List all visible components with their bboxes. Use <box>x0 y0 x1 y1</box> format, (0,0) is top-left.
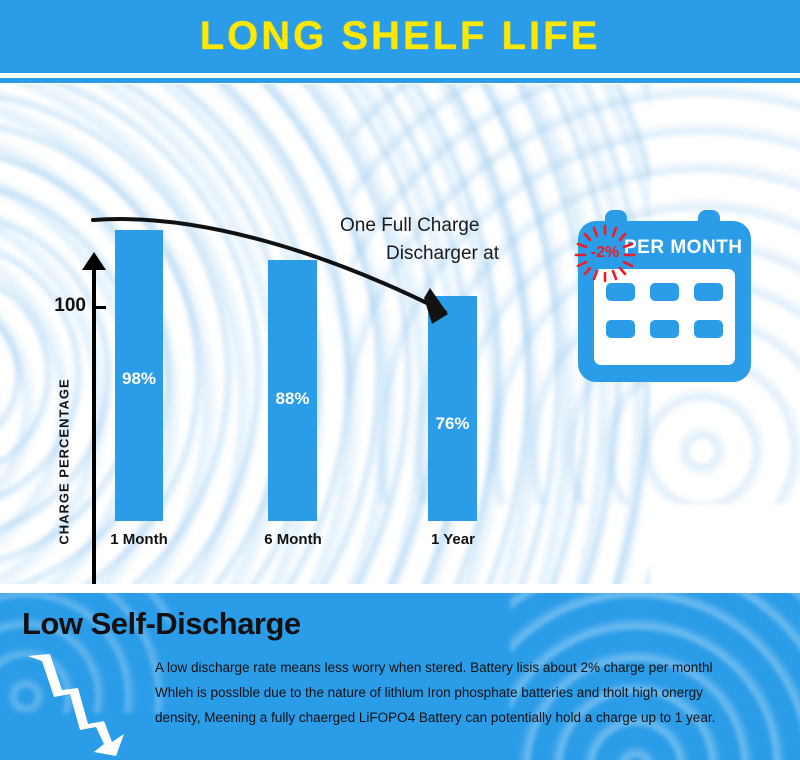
calendar-badge: PER MONTH <box>572 210 757 382</box>
bottom-section-title: Low Self-Discharge <box>22 606 301 642</box>
bottom-body-line-3: density, Meening a fully chaerged LiFOPO… <box>155 706 780 731</box>
calendar-rate-label: -2% <box>572 224 638 282</box>
bar-value-label-6-month: 88% <box>268 389 317 409</box>
calendar-cell <box>606 320 635 338</box>
bottom-panel: Low Self-Discharge A low discharge rate … <box>0 593 800 760</box>
y-axis-title: CHARGE PERCENTAGE <box>57 362 72 562</box>
bottom-section-body: A low discharge rate means less worry wh… <box>155 656 780 731</box>
chart-region: 100 0 CHARGE PERCENTAGE 98% 88% 76% 1 Mo… <box>0 84 800 584</box>
page-title: LONG SHELF LIFE <box>0 0 800 73</box>
calendar-cell <box>650 283 679 301</box>
header-divider-rule <box>0 78 800 83</box>
x-axis-category-1-year: 1 Year <box>403 531 503 548</box>
calendar-period-label: PER MONTH <box>624 237 752 259</box>
calendar-cell <box>650 320 679 338</box>
chart-annotation-line1: One Full Charge <box>340 215 479 236</box>
bottom-body-line-1: A low discharge rate means less worry wh… <box>155 656 780 681</box>
x-axis-category-1-month: 1 Month <box>89 531 189 548</box>
chart-annotation-line2: Discharger at <box>340 240 570 268</box>
calendar-cell <box>694 283 723 301</box>
y-axis-tick-100 <box>94 306 106 309</box>
calendar-grid-sheet <box>594 269 735 365</box>
bottom-body-line-2: Whleh is posslble due to the nature of l… <box>155 681 780 706</box>
y-axis-tick-label-100: 100 <box>44 295 86 317</box>
bar-value-label-1-month: 98% <box>115 369 163 389</box>
chart-annotation: One Full Charge Discharger at <box>340 212 570 267</box>
calendar-cell <box>694 320 723 338</box>
declining-zigzag-arrow-icon <box>20 648 140 758</box>
y-axis-arrow-icon <box>82 252 106 270</box>
bar-1-year <box>428 296 477 521</box>
background-swirl-pattern <box>0 84 650 584</box>
x-axis-category-6-month: 6 Month <box>243 531 343 548</box>
bar-value-label-1-year: 76% <box>428 414 477 434</box>
calendar-cell <box>606 283 635 301</box>
